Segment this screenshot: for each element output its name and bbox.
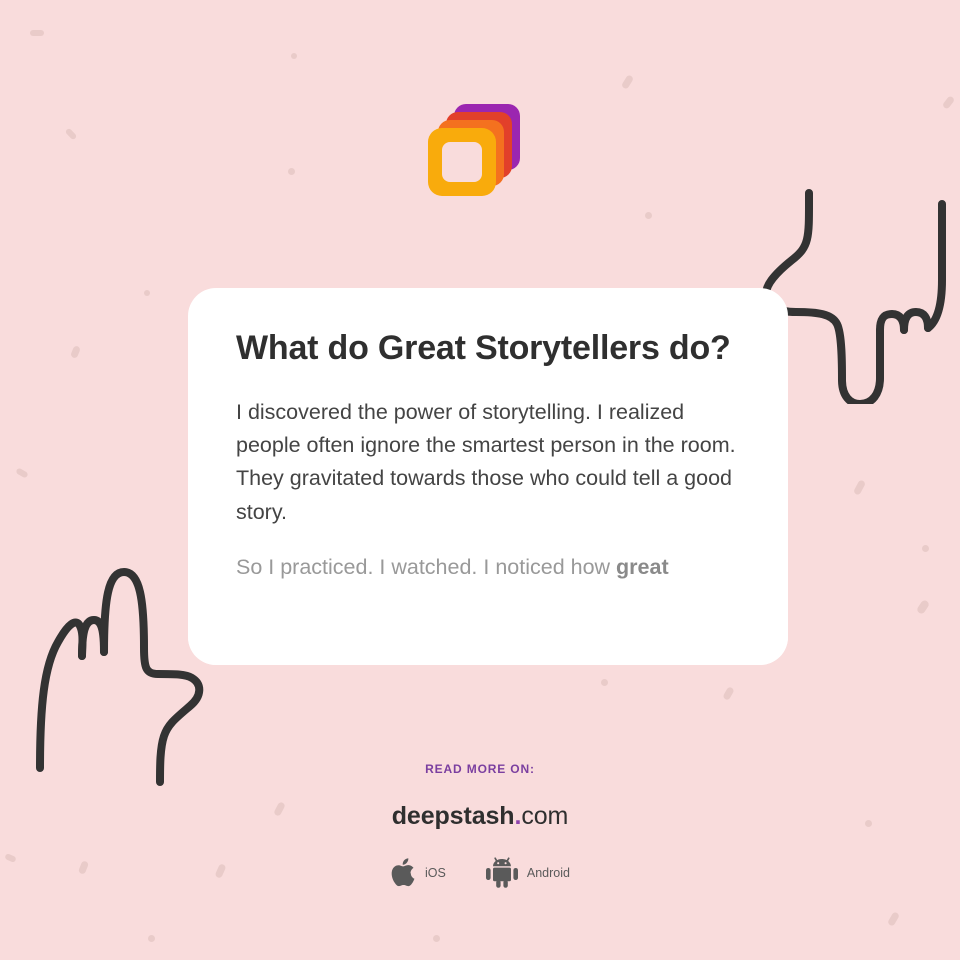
card-paragraph-2: So I practiced. I watched. I noticed how… (236, 551, 740, 584)
confetti-speck (288, 168, 295, 175)
read-more-label: READ MORE ON: (0, 762, 960, 776)
card-paragraph-2-emphasis: great (616, 555, 669, 579)
ios-label: iOS (425, 866, 446, 880)
confetti-speck (645, 212, 652, 219)
confetti-speck (887, 911, 900, 927)
card-paragraph-2-text: So I practiced. I watched. I noticed how (236, 555, 616, 579)
confetti-speck (853, 479, 866, 496)
confetti-speck (291, 53, 297, 59)
confetti-speck (148, 935, 155, 942)
card-fade-overlay (188, 595, 788, 665)
confetti-speck (433, 935, 440, 942)
brand-name: deepstash (392, 802, 515, 830)
pointing-hand-up-icon (18, 556, 214, 792)
card-title: What do Great Storytellers do? (236, 324, 740, 374)
confetti-speck (916, 599, 930, 615)
ios-badge[interactable]: iOS (390, 857, 446, 888)
confetti-speck (144, 290, 150, 296)
footer: READ MORE ON: deepstash.com iOS (0, 762, 960, 888)
confetti-speck (65, 128, 78, 141)
confetti-speck (922, 545, 929, 552)
apple-icon (390, 857, 416, 888)
confetti-speck (30, 30, 44, 36)
logo-center-cutout (442, 142, 482, 182)
confetti-speck (621, 74, 634, 90)
content-card[interactable]: What do Great Storytellers do? I discove… (188, 288, 788, 665)
android-label: Android (527, 866, 570, 880)
brand-tld: com (521, 802, 568, 830)
deepstash-logo (428, 104, 520, 196)
card-paragraph-1: I discovered the power of storytelling. … (236, 396, 740, 529)
confetti-speck (15, 467, 28, 478)
confetti-speck (70, 345, 81, 359)
android-icon (486, 857, 518, 888)
confetti-speck (601, 679, 608, 686)
android-badge[interactable]: Android (486, 857, 570, 888)
brand-wordmark[interactable]: deepstash.com (0, 802, 960, 831)
card-content: What do Great Storytellers do? I discove… (188, 288, 788, 584)
app-store-badges: iOS (0, 857, 960, 888)
confetti-speck (942, 95, 956, 110)
social-card-graphic: What do Great Storytellers do? I discove… (0, 0, 960, 960)
confetti-speck (722, 686, 735, 701)
